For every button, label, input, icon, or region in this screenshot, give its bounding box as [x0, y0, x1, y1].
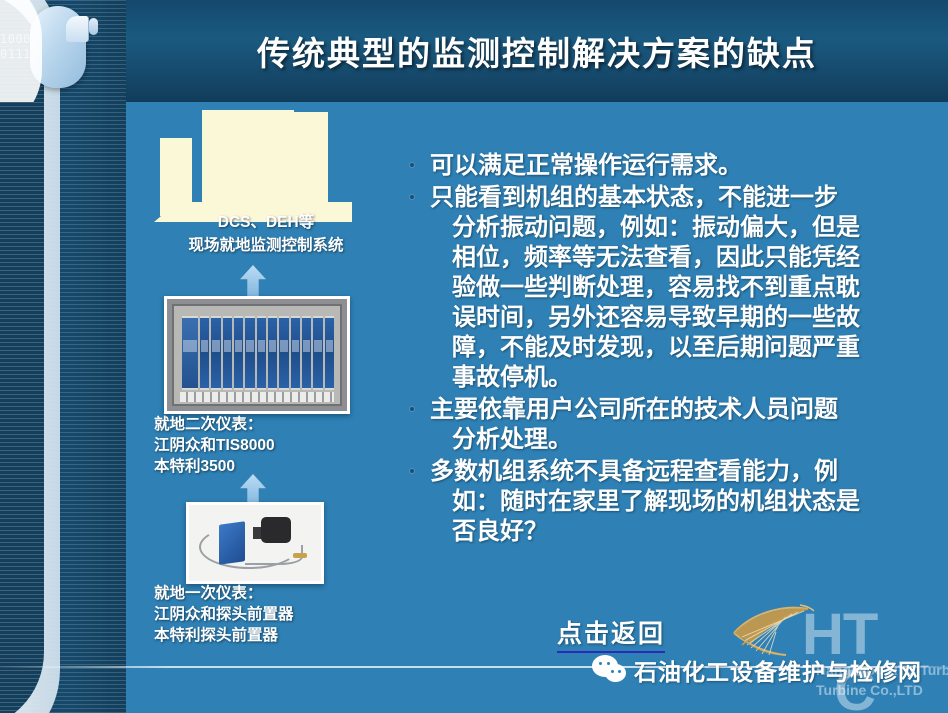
rack-bottom-connectors — [180, 392, 334, 402]
equipment-diagram: DCS、DEH等 现场就地监测控制系统 — [126, 102, 406, 662]
wechat-account-name: 石油化工设备维护与检修网 — [634, 653, 922, 687]
presentation-slide: 10000 011111 传统典型的监测控制解决方案的缺点 DCS、DEH等 现… — [0, 0, 948, 713]
bullet-continuation: 事故停机。 — [430, 362, 926, 392]
bullet-continuation: 障，不能及时发现，以至后期问题严重 — [430, 332, 926, 362]
rack-card — [279, 316, 288, 390]
mouse-button-shape — [66, 16, 89, 42]
diagram-label-primary-line2: 江阴众和探头前置器 — [154, 604, 294, 625]
bullet-text: 可以满足正常操作运行需求。 — [430, 150, 926, 180]
workstation-monitor-shape — [202, 110, 294, 202]
list-item: 只能看到机组的基本状态，不能进一步 分析振动问题，例如：振动偏大，但是 相位，频… — [406, 182, 926, 392]
workstation-icon — [154, 110, 354, 220]
slide-header: 传统典型的监测控制解决方案的缺点 — [126, 0, 948, 102]
bullet-list: 可以满足正常操作运行需求。 只能看到机组的基本状态，不能进一步 分析振动问题，例… — [406, 150, 926, 548]
list-item: 主要依靠用户公司所在的技术人员问题 分析处理。 — [406, 394, 926, 454]
rack-card — [313, 316, 322, 390]
rack-card — [291, 316, 300, 390]
wechat-dot — [607, 662, 610, 665]
diagram-label-primary-line1: 就地一次仪表： — [154, 583, 263, 604]
rack-card — [234, 316, 243, 390]
probe-tip-shape — [293, 553, 307, 558]
bullet-continuation: 误时间，另外还容易导致早期的一些故 — [430, 302, 926, 332]
diagram-label-dcs-line1: DCS、DEH等 — [132, 212, 400, 233]
rack-card — [182, 316, 198, 390]
bullet-continuation: 如：随时在家里了解现场的机组状态是 — [430, 486, 926, 516]
bullet-continuation: 否良好？ — [430, 516, 926, 546]
list-item: 多数机组系统不具备远程查看能力，例 如：随时在家里了解现场的机组状态是 否良好？ — [406, 456, 926, 546]
workstation-monitor2-shape — [286, 112, 328, 202]
proximity-probe-photo — [186, 502, 324, 584]
rack-card — [302, 316, 311, 390]
wechat-dot — [599, 662, 602, 665]
bullet-continuation: 相位，频率等无法查看，因此只能凭经 — [430, 242, 926, 272]
page-title: 传统典型的监测控制解决方案的缺点 — [257, 27, 817, 75]
wechat-bubble-small — [605, 664, 626, 682]
diagram-label-secondary-line2: 江阴众和TIS8000 — [154, 435, 275, 456]
instrument-rack-photo — [164, 296, 350, 414]
wechat-watermark: 石油化工设备维护与检修网 — [592, 653, 922, 687]
diagram-label-dcs-line2: 现场就地监测控制系统 — [132, 235, 400, 256]
left-strip-striped-curve — [0, 0, 44, 713]
bullet-text: 只能看到机组的基本状态，不能进一步 — [430, 182, 926, 212]
bullet-continuation: 分析处理。 — [430, 424, 926, 454]
bullet-text: 多数机组系统不具备远程查看能力，例 — [430, 456, 926, 486]
list-item: 可以满足正常操作运行需求。 — [406, 150, 926, 180]
bullet-continuation: 验做一些判断处理，容易找不到重点耽 — [430, 272, 926, 302]
bullet-text: 主要依靠用户公司所在的技术人员问题 — [430, 394, 926, 424]
rack-frame-shape — [172, 304, 342, 406]
back-link[interactable]: 点击返回 — [557, 614, 665, 653]
mouse-block-white-curve — [0, 0, 42, 102]
rack-card — [200, 316, 209, 390]
rack-card — [257, 316, 266, 390]
wechat-dot — [618, 670, 621, 673]
mouse-decor-block: 10000 011111 — [0, 0, 126, 102]
rack-card — [211, 316, 220, 390]
rack-card — [245, 316, 254, 390]
wechat-dot — [611, 670, 614, 673]
rack-card — [325, 316, 334, 390]
rack-card — [223, 316, 232, 390]
probe-transmitter-shape — [219, 521, 245, 565]
diagram-label-primary-line3: 本特利探头前置器 — [154, 625, 278, 646]
probe-head-shape — [261, 517, 291, 543]
diagram-label-secondary-line1: 就地二次仪表： — [154, 414, 263, 435]
rack-card — [268, 316, 277, 390]
mouse-wheel-shape — [89, 18, 98, 35]
left-decor-strip — [0, 0, 126, 713]
up-arrow-icon — [240, 265, 266, 299]
bullet-continuation: 分析振动问题，例如：振动偏大，但是 — [430, 212, 926, 242]
wechat-icon — [592, 655, 626, 685]
diagram-label-secondary-line3: 本特利3500 — [154, 456, 235, 477]
rack-cards-group — [182, 316, 334, 390]
